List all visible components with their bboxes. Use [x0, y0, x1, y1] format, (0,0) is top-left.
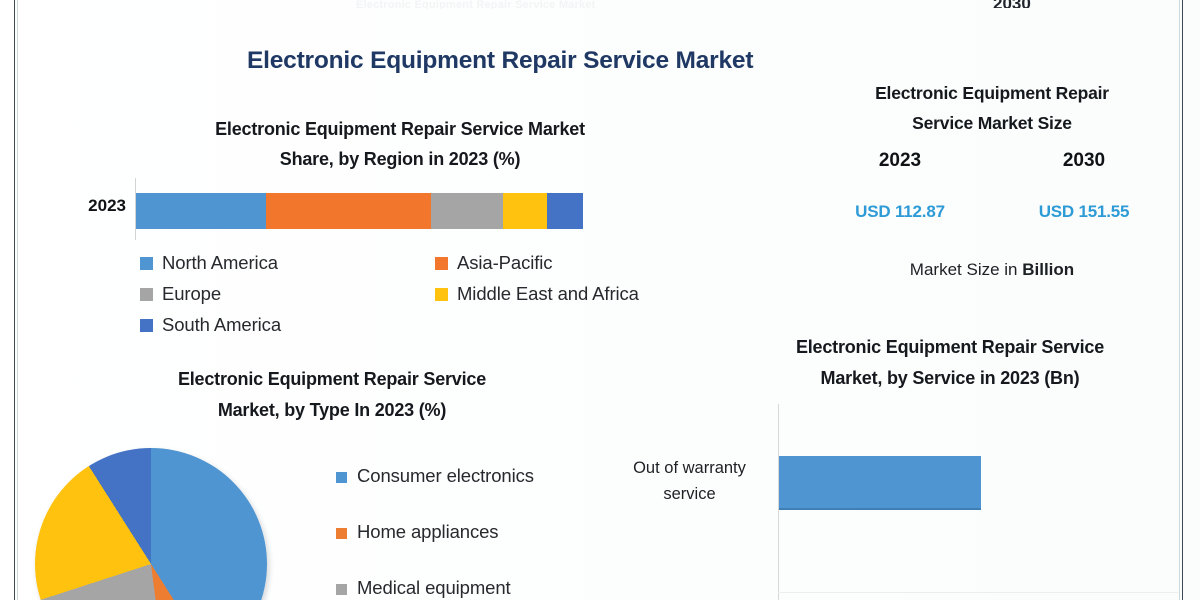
region-chart-category-label: 2023 — [62, 196, 126, 216]
region-stacked-bar — [136, 193, 583, 229]
market-size-footnote-prefix: Market Size in — [910, 260, 1022, 279]
legend-swatch-icon — [336, 472, 347, 483]
market-size-title: Electronic Equipment Repair Service Mark… — [808, 78, 1176, 138]
service-chart-title: Electronic Equipment Repair Service Mark… — [735, 332, 1165, 394]
legend-label: Asia-Pacific — [457, 252, 552, 274]
type-pie-chart — [35, 448, 267, 600]
legend-item-north-america[interactable]: North America — [140, 252, 278, 274]
legend-label: Middle East and Africa — [457, 283, 639, 305]
service-chart-bar — [779, 456, 981, 510]
market-size-title-line2: Service Market Size — [808, 108, 1176, 138]
page-title: Electronic Equipment Repair Service Mark… — [247, 47, 831, 75]
left-border-line-inner — [17, 0, 18, 600]
service-chart-category-label: Out of warranty service — [612, 455, 767, 507]
legend-row: Europe Middle East and Africa — [140, 283, 700, 314]
market-size-footnote-unit: Billion — [1022, 260, 1074, 279]
market-size-footnote: Market Size in Billion — [808, 260, 1176, 280]
legend-row: South America — [140, 314, 700, 345]
legend-swatch-icon — [336, 528, 347, 539]
left-border-line — [14, 0, 15, 600]
market-size-title-line1: Electronic Equipment Repair — [808, 78, 1176, 108]
legend-label: Consumer electronics — [357, 465, 534, 487]
legend-swatch-icon — [336, 584, 347, 595]
service-chart-gridline — [778, 592, 1178, 593]
region-bar-segment — [266, 193, 431, 229]
market-size-value-start: USD 112.87 — [808, 202, 992, 222]
right-border-line — [1182, 0, 1183, 600]
infographic-canvas: Electronic Equipment Repair Service Mark… — [0, 0, 1200, 600]
market-size-value-end: USD 151.55 — [992, 202, 1176, 222]
region-chart-title-line2: Share, by Region in 2023 (%) — [110, 144, 690, 174]
market-size-year-end: 2030 — [992, 150, 1176, 172]
legend-item-middle-east-and-africa[interactable]: Middle East and Africa — [435, 283, 639, 305]
region-chart-legend: North America Asia-Pacific Europe Middle… — [140, 252, 700, 345]
legend-row: North America Asia-Pacific — [140, 252, 700, 283]
region-chart-title: Electronic Equipment Repair Service Mark… — [110, 114, 690, 174]
legend-swatch-icon — [140, 288, 153, 301]
right-border-line-inner — [1179, 0, 1180, 600]
legend-swatch-icon — [435, 257, 448, 270]
legend-label: South America — [162, 314, 281, 336]
market-size-values: USD 112.87 USD 151.55 — [808, 202, 1176, 222]
legend-item-asia-pacific[interactable]: Asia-Pacific — [435, 252, 552, 274]
legend-item-europe[interactable]: Europe — [140, 283, 221, 305]
service-chart-title-line2: Market, by Service in 2023 (Bn) — [735, 363, 1165, 394]
market-size-years: 2023 2030 — [808, 150, 1176, 172]
legend-label: North America — [162, 252, 278, 274]
region-bar-segment — [503, 193, 548, 229]
legend-swatch-icon — [140, 257, 153, 270]
legend-swatch-icon — [140, 319, 153, 332]
market-size-year-start: 2023 — [808, 150, 992, 172]
region-bar-segment — [547, 193, 583, 229]
type-chart-title-line1: Electronic Equipment Repair Service — [72, 364, 592, 395]
cut-off-header-text: Electronic Equipment Repair Service Mark… — [356, 0, 876, 9]
type-chart-title-line2: Market, by Type In 2023 (%) — [72, 395, 592, 426]
region-bar-segment — [431, 193, 503, 229]
region-bar-segment — [136, 193, 266, 229]
legend-label: Home appliances — [357, 521, 498, 543]
service-chart-title-line1: Electronic Equipment Repair Service — [735, 332, 1165, 363]
legend-item-medical-equipment[interactable]: Medical equipment — [336, 577, 606, 600]
cut-off-year-text: 2030 — [993, 0, 1049, 8]
legend-item-consumer-electronics[interactable]: Consumer electronics — [336, 465, 606, 521]
type-chart-title: Electronic Equipment Repair Service Mark… — [72, 364, 592, 426]
legend-item-south-america[interactable]: South America — [140, 314, 281, 336]
legend-item-home-appliances[interactable]: Home appliances — [336, 521, 606, 577]
region-chart-title-line1: Electronic Equipment Repair Service Mark… — [110, 114, 690, 144]
legend-swatch-icon — [435, 288, 448, 301]
legend-label: Europe — [162, 283, 221, 305]
type-chart-legend: Consumer electronics Home appliances Med… — [336, 465, 606, 600]
legend-label: Medical equipment — [357, 577, 511, 599]
